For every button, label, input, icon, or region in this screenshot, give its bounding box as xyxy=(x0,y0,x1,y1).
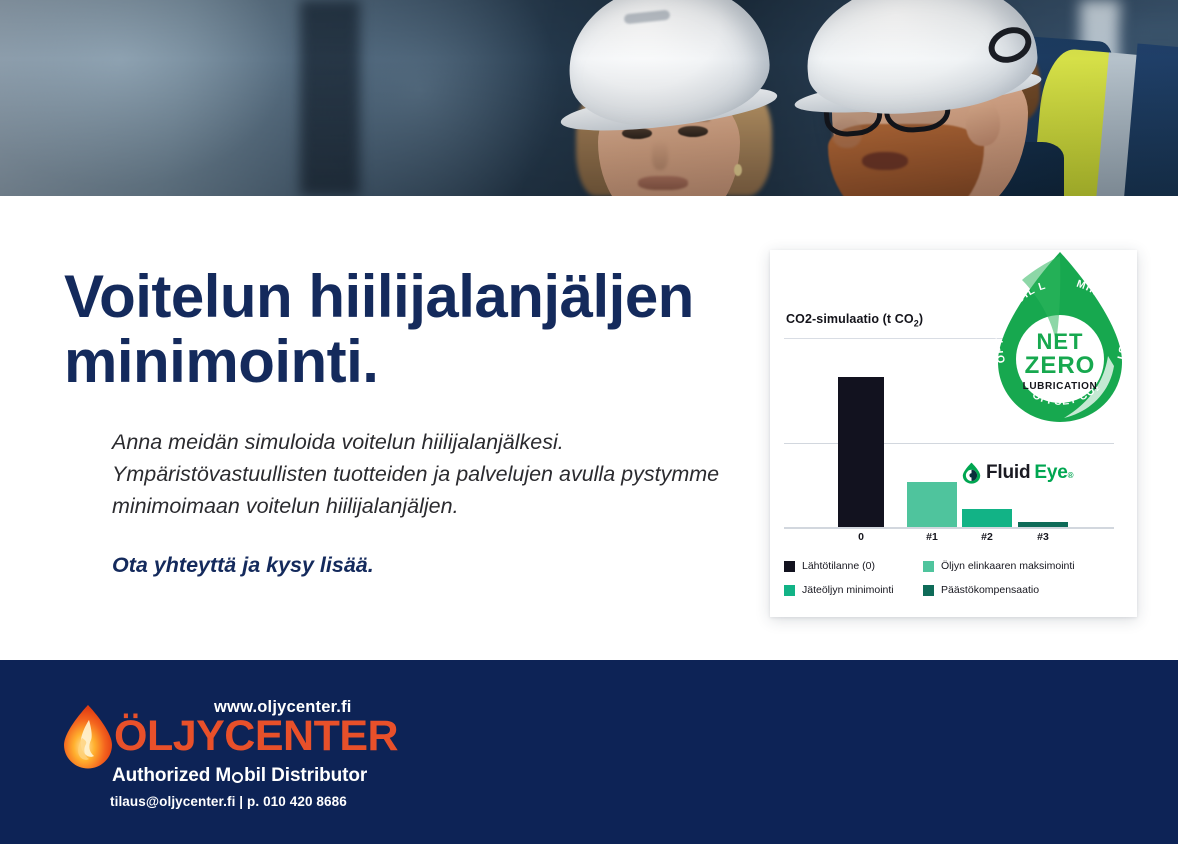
legend-label-baseline: Lähtötilanne (0) xyxy=(802,560,875,572)
cta-text: Ota yhteyttä ja kysy lisää. xyxy=(112,553,374,578)
page-title: Voitelun hiilijalanjäljen minimointi. xyxy=(64,264,754,395)
chart-x-axis xyxy=(784,527,1114,529)
authorized-suffix: bil Distributor xyxy=(244,765,367,787)
fluid-eye-word-fluid: Fluid xyxy=(986,462,1030,484)
badge-lubrication-text: LUBRICATION xyxy=(1023,381,1098,392)
legend-label-waste-oil: Jäteöljyn minimointi xyxy=(802,584,894,596)
mobil-o-icon xyxy=(232,772,243,783)
bar-baseline xyxy=(838,377,884,527)
footer: www.oljycenter.fi ÖLJYCENTER Authorized … xyxy=(0,660,1178,844)
hero-vignette xyxy=(0,0,1178,196)
legend-swatch-oil-life xyxy=(923,561,934,572)
x-tick-1: #1 xyxy=(907,531,957,543)
co2-simulation-card: CO2-simulaatio (t CO2) 0 #1 #2 #3 Lähtöt… xyxy=(770,250,1137,617)
legend-swatch-baseline xyxy=(784,561,795,572)
legend-item-oil-life: Öljyn elinkaaren maksimointi xyxy=(923,560,1075,572)
fluid-eye-registered-mark: ® xyxy=(1068,471,1074,480)
fluid-eye-wordmark: FluidEye® xyxy=(986,462,1073,484)
oljycenter-logo: www.oljycenter.fi ÖLJYCENTER Authorized … xyxy=(62,698,392,818)
legend-row-2: Jäteöljyn minimointi Päästökompensaatio xyxy=(784,584,1124,608)
flame-droplet-icon xyxy=(62,704,114,770)
badge-net-text: NET xyxy=(1037,329,1084,354)
legend-item-waste-oil: Jäteöljyn minimointi xyxy=(784,584,894,596)
brand-name: ÖLJYCENTER xyxy=(114,715,398,758)
hero-image xyxy=(0,0,1178,196)
legend-swatch-waste-oil xyxy=(784,585,795,596)
x-tick-3: #3 xyxy=(1018,531,1068,543)
bar-waste-oil xyxy=(962,509,1012,527)
intro-paragraph: Anna meidän simuloida voitelun hiilijala… xyxy=(112,427,752,522)
fluid-eye-word-eye: Eye xyxy=(1034,462,1067,484)
fluid-eye-logo: FluidEye® xyxy=(962,462,1073,484)
legend-swatch-offset xyxy=(923,585,934,596)
chart-x-tick-labels: 0 #1 #2 #3 xyxy=(784,531,1114,551)
chart-legend: Lähtötilanne (0) Öljyn elinkaaren maksim… xyxy=(784,560,1124,608)
net-zero-lubrication-badge: OPTIMIZE OIL LIFE MINIMIZE WASTE OFFSET … xyxy=(986,246,1134,436)
fluid-eye-droplet-icon xyxy=(962,462,981,484)
legend-item-baseline: Lähtötilanne (0) xyxy=(784,560,875,572)
legend-item-offset: Päästökompensaatio xyxy=(923,584,1039,596)
legend-row-1: Lähtötilanne (0) Öljyn elinkaaren maksim… xyxy=(784,560,1124,584)
legend-label-offset: Päästökompensaatio xyxy=(941,584,1039,596)
authorized-prefix: Authorized M xyxy=(112,765,231,787)
bar-oil-life xyxy=(907,482,957,527)
x-tick-2: #2 xyxy=(962,531,1012,543)
badge-zero-text: ZERO xyxy=(1025,352,1096,379)
x-tick-0: 0 xyxy=(836,531,886,543)
contact-info: tilaus@oljycenter.fi | p. 010 420 8686 xyxy=(110,794,347,809)
legend-label-oil-life: Öljyn elinkaaren maksimointi xyxy=(941,560,1075,572)
authorized-distributor-line: Authorized Mbil Distributor xyxy=(112,765,367,787)
